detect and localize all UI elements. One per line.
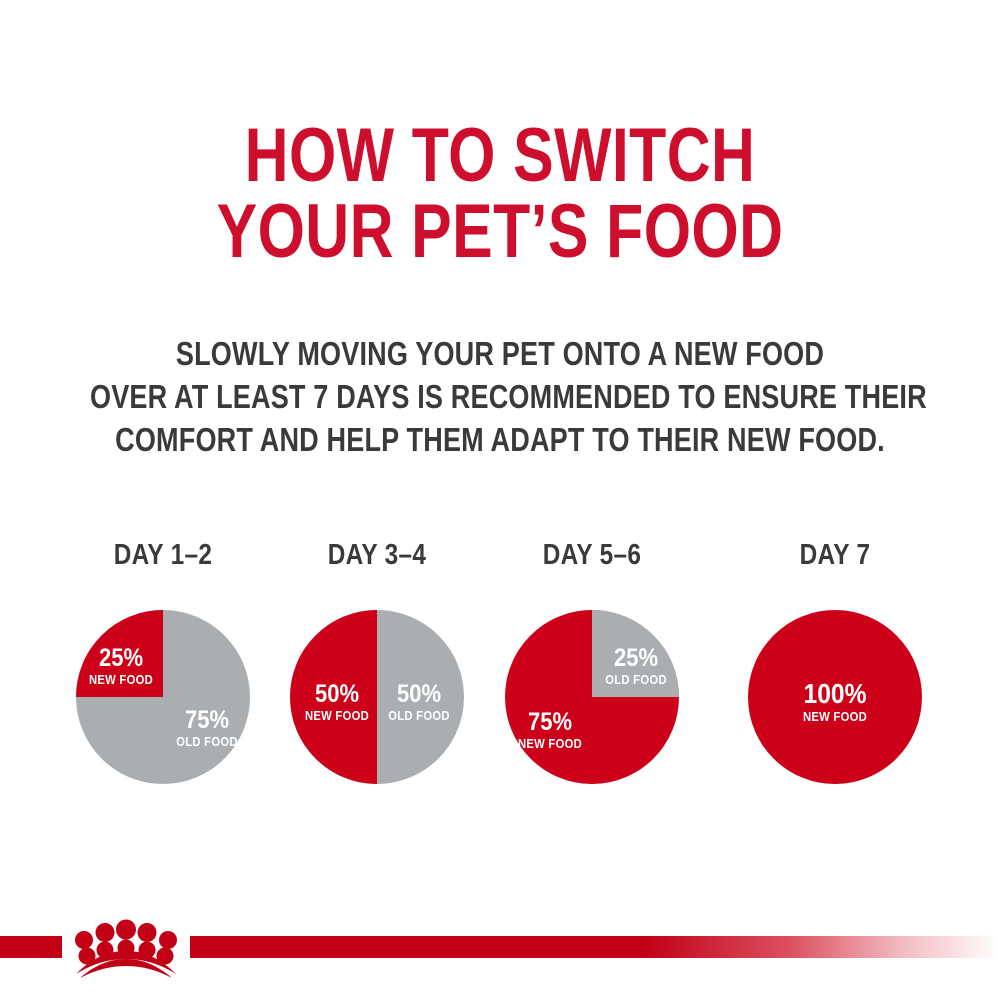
day-label: DAY 7 [743, 540, 928, 570]
pie-chart-day-7: DAY 7 100% NEW FOOD [725, 540, 945, 784]
pie-chart-day-3-4: DAY 3–4 50% NEW FOOD 50% OLD FOOD [267, 540, 487, 784]
crown-icon [62, 908, 190, 980]
page-subtitle-line-3: COMFORT AND HELP THEM ADAPT TO THEIR NEW… [90, 418, 910, 461]
pie-svg [76, 610, 250, 784]
footer-bar-right [190, 936, 1000, 958]
page-subtitle: SLOWLY MOVING YOUR PET ONTO A NEW FOOD O… [0, 332, 1000, 461]
footer-bar-left [0, 936, 62, 958]
pie-chart-row: DAY 1–2 25% NEW FOOD 75% OLD FOOD DAY 3–… [0, 540, 1000, 800]
day-label: DAY 1–2 [71, 540, 256, 570]
pie-graphic: 25% NEW FOOD 75% OLD FOOD [76, 610, 250, 784]
pie-graphic: 50% NEW FOOD 50% OLD FOOD [290, 610, 464, 784]
pie-slice-new-food [290, 610, 377, 784]
page-title-line-1: HOW TO SWITCH [100, 118, 900, 194]
pie-chart-day-5-6: DAY 5–6 25% OLD FOOD 75% NEW FOOD [482, 540, 702, 784]
page-subtitle-line-1: SLOWLY MOVING YOUR PET ONTO A NEW FOOD [90, 332, 910, 375]
page-subtitle-line-2: OVER AT LEAST 7 DAYS IS RECOMMENDED TO E… [90, 375, 910, 418]
page-title-line-2: YOUR PET’S FOOD [100, 194, 900, 270]
pie-slice-new-food [748, 610, 922, 784]
pie-slice-old-food [592, 610, 679, 697]
pie-graphic: 25% OLD FOOD 75% NEW FOOD [505, 610, 679, 784]
pie-svg [748, 610, 922, 784]
pie-graphic: 100% NEW FOOD [748, 610, 922, 784]
day-label: DAY 5–6 [500, 540, 685, 570]
pie-slice-new-food [76, 610, 163, 697]
pie-chart-day-1-2: DAY 1–2 25% NEW FOOD 75% OLD FOOD [53, 540, 273, 784]
pie-svg [505, 610, 679, 784]
pie-svg [290, 610, 464, 784]
page-title: HOW TO SWITCH YOUR PET’S FOOD [0, 118, 1000, 270]
footer [0, 936, 1000, 958]
day-label: DAY 3–4 [285, 540, 470, 570]
royal-canin-crown-logo [62, 908, 190, 980]
